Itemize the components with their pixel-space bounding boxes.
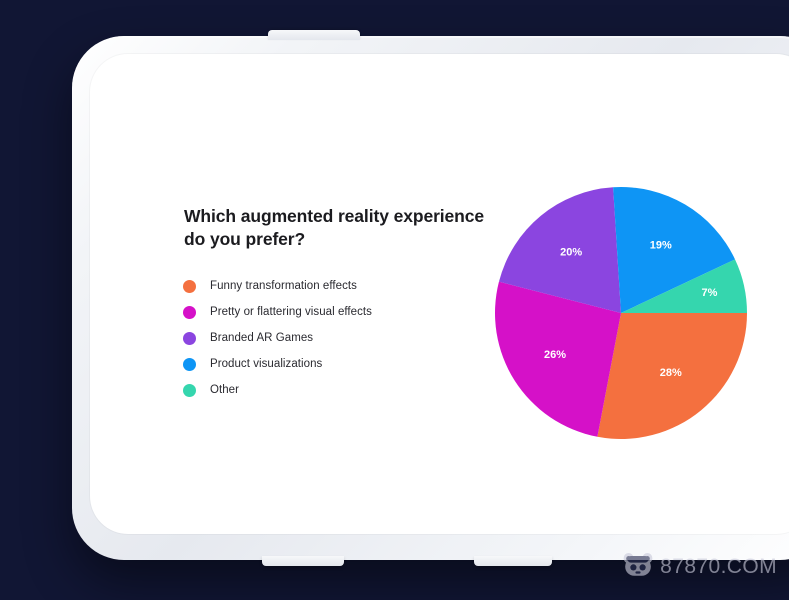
page-title: Which augmented reality experience do yo… (184, 205, 494, 252)
legend-swatch-icon (183, 384, 196, 397)
legend-swatch-icon (183, 332, 196, 345)
legend-item-label: Branded AR Games (210, 332, 313, 344)
legend-item-funny-transformation-effects[interactable]: Funny transformation effects (183, 273, 483, 299)
legend-swatch-icon (183, 280, 196, 293)
pie-slice-label: 20% (560, 247, 582, 259)
phone-device-frame: Which augmented reality experience do yo… (72, 36, 789, 560)
legend-item-product-visualizations[interactable]: Product visualizations (183, 351, 483, 377)
device-bottom-port-left[interactable] (262, 556, 344, 566)
legend-item-label: Other (210, 384, 239, 396)
watermark-text: 87870.COM (660, 555, 777, 579)
panda-logo-icon (623, 551, 653, 582)
pie-slice-label: 7% (702, 287, 718, 299)
legend-item-branded-ar-games[interactable]: Branded AR Games (183, 325, 483, 351)
watermark: 87870.COM (623, 551, 777, 582)
pie-chart: 28%26%20%19%7% (493, 185, 749, 441)
pie-chart-svg: 28%26%20%19%7% (493, 185, 749, 441)
legend-swatch-icon (183, 358, 196, 371)
pie-slice-label: 28% (660, 367, 682, 379)
pie-slice-label: 26% (544, 349, 566, 361)
legend-item-label: Pretty or flattering visual effects (210, 306, 372, 318)
legend-item-label: Funny transformation effects (210, 280, 357, 292)
pie-slice-label: 19% (650, 240, 672, 252)
phone-screen: Which augmented reality experience do yo… (90, 54, 789, 534)
legend-item-other[interactable]: Other (183, 377, 483, 403)
legend-item-pretty-or-flattering-visual-effects[interactable]: Pretty or flattering visual effects (183, 299, 483, 325)
legend-swatch-icon (183, 306, 196, 319)
device-power-button[interactable] (268, 30, 360, 40)
chart-legend: Funny transformation effects Pretty or f… (183, 273, 483, 403)
device-bottom-port-right[interactable] (474, 556, 552, 566)
legend-item-label: Product visualizations (210, 358, 322, 370)
survey-slide: Which augmented reality experience do yo… (90, 54, 789, 534)
